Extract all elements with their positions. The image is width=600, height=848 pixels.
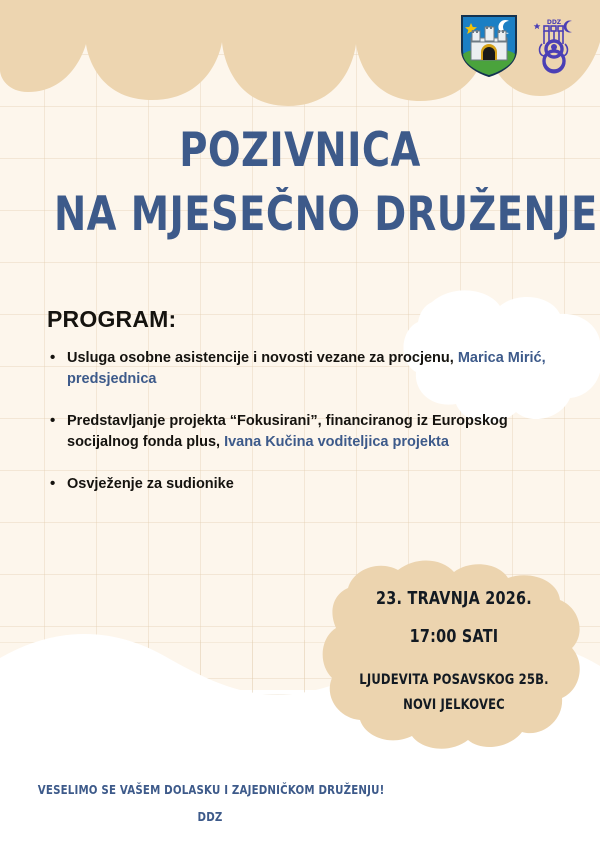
event-address-line-2: NOVI JELKOVEC [355,697,553,713]
ddz-logo-icon: DDZ [530,14,578,76]
svg-text:DDZ: DDZ [547,19,562,26]
logo-group: DDZ [460,14,578,78]
footer-signature: DDZ [38,809,382,824]
invitation-poster: DDZ POZIVNICA NA MJESEČNO DRUŽENJE PROGR… [0,0,600,848]
program-list-item: Predstavljanje projekta “Fokusirani”, fi… [48,411,568,452]
zagreb-coat-of-arms-icon [460,14,518,78]
event-address-line-1: LJUDEVITA POSAVSKOG 25B. [355,672,553,688]
event-details: 23. TRAVNJA 2026. 17:00 SATI LJUDEVITA P… [330,588,578,713]
program-list-item: Osvježenje za sudionike [48,474,568,495]
title-line-2: NA MJESEČNO DRUŽENJE [54,190,546,240]
program-item-highlight: Ivana Kučina voditeljica projekta [224,434,449,450]
program-item-text: Usluga osobne asistencije i novosti veza… [67,350,458,366]
poster-footer: VESELIMO SE VAŠEM DOLASKU I ZAJEDNIČKOM … [0,782,420,824]
event-date: 23. TRAVNJA 2026. [355,588,553,609]
program-list: Usluga osobne asistencije i novosti veza… [48,348,568,517]
footer-message: VESELIMO SE VAŠEM DOLASKU I ZAJEDNIČKOM … [38,782,382,797]
program-list-item: Usluga osobne asistencije i novosti veza… [48,348,568,389]
program-item-text: Osvježenje za sudionike [67,476,234,492]
program-heading: PROGRAM: [47,306,176,333]
title-line-1: POZIVNICA [54,126,546,176]
poster-title: POZIVNICA NA MJESEČNO DRUŽENJE [0,126,600,240]
event-time: 17:00 SATI [355,626,553,647]
